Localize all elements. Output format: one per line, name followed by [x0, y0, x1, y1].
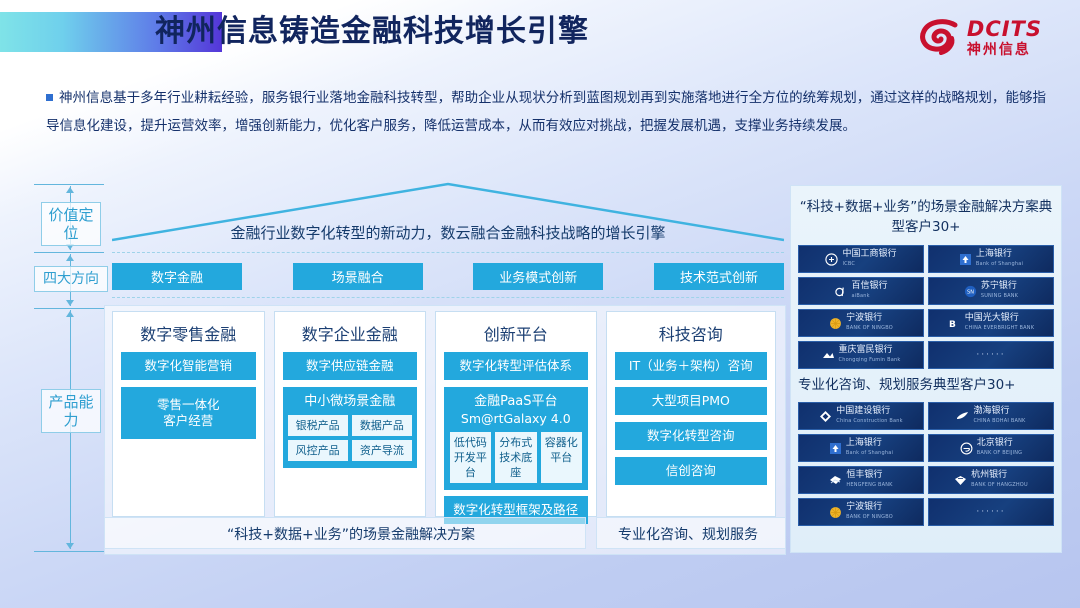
- column-title: 数字企业金融: [283, 321, 418, 345]
- client-grid-consulting: 中国建设银行 China Construction Bank 渤海银行 CHIN…: [798, 402, 1054, 526]
- direction-pill-scenario-fusion[interactable]: 场景融合: [293, 263, 423, 290]
- client-cell[interactable]: 重庆富民银行 Chongqing Fumin Bank: [798, 341, 924, 369]
- box-large-project-pmo[interactable]: 大型项目PMO: [615, 387, 767, 415]
- box-transformation-assessment-system[interactable]: 数字化转型评估体系: [444, 352, 587, 380]
- hengfeng-icon: [829, 474, 842, 487]
- client-name: 上海银行 Bank of Shanghai: [976, 249, 1023, 269]
- dcits-logo-cn: 神州信息: [967, 43, 1042, 57]
- divider-dashed-top: [112, 252, 784, 253]
- rail-label-directions: 四大方向: [34, 266, 108, 292]
- capability-columns: 数字零售金融 数字化智能营销 零售一体化客户经营 数字企业金融 数字供应链金融 …: [112, 311, 776, 517]
- client-name: 重庆富民银行 Chongqing Fumin Bank: [839, 345, 901, 365]
- sub-asset-routing[interactable]: 资产导流: [352, 440, 412, 461]
- caption-consulting-service: 专业化咨询、规划服务: [600, 524, 776, 544]
- column-digital-retail-finance: 数字零售金融 数字化智能营销 零售一体化客户经营: [112, 311, 265, 517]
- direction-pill-digital-finance[interactable]: 数字金融: [112, 263, 242, 290]
- direction-pill-row: 数字金融 场景融合 业务模式创新 技术范式创新: [112, 263, 784, 291]
- sub-tax-product[interactable]: 银税产品: [288, 415, 348, 436]
- center-tagline: 金融行业数字化转型的新动力，数云融合金融科技战略的增长引擎: [112, 222, 784, 243]
- column-technology-consulting: 科技咨询 IT（业务＋架构）咨询 大型项目PMO 数字化转型咨询 信创咨询: [606, 311, 776, 517]
- group-title: 金融PaaS平台 Sm@rtGalaxy 4.0: [449, 393, 582, 427]
- client-name: 百信银行 aiBank: [851, 281, 887, 301]
- sub-lowcode-platform[interactable]: 低代码开发平台: [450, 432, 491, 483]
- group-sme-scenario-finance[interactable]: 中小微场景金融 银税产品 数据产品 风控产品 资产导流: [283, 387, 418, 468]
- box-digital-supply-chain-finance[interactable]: 数字供应链金融: [283, 352, 418, 380]
- dcits-swoosh-icon: [919, 18, 961, 58]
- svg-text:SN: SN: [967, 289, 974, 295]
- client-cell[interactable]: 北京银行 BANK OF BEIJING: [928, 434, 1054, 462]
- client-cell[interactable]: 宁波银行 BANK OF NINGBO: [798, 498, 924, 526]
- sub-risk-product[interactable]: 风控产品: [288, 440, 348, 461]
- direction-pill-business-model[interactable]: 业务模式创新: [473, 263, 603, 290]
- client-name: 渤海银行 CHINA BOHAI BANK: [973, 406, 1025, 426]
- sub-container-platform[interactable]: 容器化平台: [541, 432, 582, 483]
- page-title: 神州信息铸造金融科技增长引擎: [155, 9, 589, 55]
- group-title-sub: Sm@rtGalaxy 4.0: [449, 410, 582, 427]
- client-name: 上海银行 Bank of Shanghai: [846, 438, 893, 458]
- client-name: 中国建设银行 China Construction Bank: [836, 406, 902, 426]
- icbc-icon: [825, 253, 838, 266]
- client-name: 北京银行 BANK OF BEIJING: [977, 438, 1023, 458]
- column-innovation-platform: 创新平台 数字化转型评估体系 金融PaaS平台 Sm@rtGalaxy 4.0 …: [435, 311, 596, 517]
- intro-paragraph: 神州信息基于多年行业耕耘经验，服务银行业落地金融科技转型，帮助企业从现状分析到蓝…: [46, 84, 1046, 140]
- rail-label-capability: 产品能力: [41, 389, 101, 433]
- boshanghai-icon: [829, 442, 842, 455]
- divider-dashed-bottom: [112, 297, 784, 298]
- sub-distributed-tech-base[interactable]: 分布式技术底座: [495, 432, 536, 483]
- client-cell[interactable]: 杭州银行 BANK OF HANGZHOU: [928, 466, 1054, 494]
- group-financial-paas-platform[interactable]: 金融PaaS平台 Sm@rtGalaxy 4.0 低代码开发平台 分布式技术底座…: [444, 387, 587, 490]
- client-name: 中国工商银行 ICBC: [842, 249, 896, 269]
- box-digital-transformation-consulting[interactable]: 数字化转型咨询: [615, 422, 767, 450]
- column-title: 创新平台: [444, 321, 587, 345]
- bohai-icon: [956, 410, 969, 423]
- column-title: 数字零售金融: [121, 321, 256, 345]
- client-cell[interactable]: 上海银行 Bank of Shanghai: [798, 434, 924, 462]
- column-title: 科技咨询: [615, 321, 767, 345]
- client-cell[interactable]: 百信银行 aiBank: [798, 277, 924, 305]
- left-rail: 价值定位 四大方向 产品能力: [30, 184, 108, 552]
- svg-text:B: B: [949, 320, 956, 330]
- dcits-logo-text: DCITS 神州信息: [967, 19, 1042, 57]
- ccb-icon: [819, 410, 832, 423]
- bullet-square-icon: [46, 94, 53, 101]
- box-digital-smart-marketing[interactable]: 数字化智能营销: [121, 352, 256, 380]
- fumin-icon: [822, 349, 835, 362]
- client-name: 恒丰银行 HENGFENG BANK: [846, 470, 892, 490]
- direction-pill-tech-paradigm[interactable]: 技术范式创新: [654, 263, 784, 290]
- rail-label-value: 价值定位: [41, 202, 101, 246]
- suning-icon: SN: [964, 285, 977, 298]
- ellipsis-icon: ······: [976, 350, 1005, 360]
- client-name: 宁波银行 BANK OF NINGBO: [846, 502, 893, 522]
- sub-data-product[interactable]: 数据产品: [352, 415, 412, 436]
- ningbo-icon: [829, 506, 842, 519]
- client-name: 苏宁银行 SUNING BANK: [981, 281, 1018, 301]
- client-cell-more[interactable]: ······: [928, 341, 1054, 369]
- boshanghai-icon: [959, 253, 972, 266]
- ellipsis-icon: ······: [976, 507, 1005, 517]
- group-title-main: 金融PaaS平台: [474, 394, 557, 409]
- clients-heading-consulting: 专业化咨询、规划服务典型客户30+: [798, 376, 1054, 395]
- client-cell[interactable]: 中国工商银行 ICBC: [798, 245, 924, 273]
- dcits-logo-en: DCITS: [967, 19, 1042, 40]
- ningbo-icon: [829, 317, 842, 330]
- client-name: 杭州银行 BANK OF HANGZHOU: [971, 470, 1028, 490]
- aibank-icon: [834, 285, 847, 298]
- group-title: 中小微场景金融: [288, 393, 413, 410]
- box-retail-integrated-customer-ops[interactable]: 零售一体化客户经营: [121, 387, 256, 439]
- client-cell[interactable]: 渤海银行 CHINA BOHAI BANK: [928, 402, 1054, 430]
- caption-scenario-solution: “科技+数据+业务”的场景金融解决方案: [112, 524, 590, 544]
- client-name: 宁波银行 BANK OF NINGBO: [846, 313, 893, 333]
- client-name: 中国光大银行 CHINA EVERBRIGHT BANK: [965, 313, 1034, 333]
- client-cell[interactable]: B 中国光大银行 CHINA EVERBRIGHT BANK: [928, 309, 1054, 337]
- client-cell[interactable]: SN 苏宁银行 SUNING BANK: [928, 277, 1054, 305]
- sub-item-grid: 银税产品 数据产品 风控产品 资产导流: [288, 415, 413, 461]
- clients-heading-scenario: “科技+数据+业务”的场景金融解决方案典型客户30+: [798, 197, 1054, 237]
- hangzhou-icon: [954, 474, 967, 487]
- box-it-consulting[interactable]: IT（业务＋架构）咨询: [615, 352, 767, 380]
- everbright-icon: B: [948, 317, 961, 330]
- dcits-logo: DCITS 神州信息: [919, 16, 1042, 60]
- client-cell[interactable]: 中国建设银行 China Construction Bank: [798, 402, 924, 430]
- beijing-icon: [960, 442, 973, 455]
- client-cell[interactable]: 宁波银行 BANK OF NINGBO: [798, 309, 924, 337]
- sub-item-grid: 低代码开发平台 分布式技术底座 容器化平台: [449, 432, 582, 483]
- client-grid-scenario: 中国工商银行 ICBC 上海银行 Bank of Shanghai 百信银行: [798, 245, 1054, 369]
- client-logos-panel: “科技+数据+业务”的场景金融解决方案典型客户30+ 中国工商银行 ICBC 上…: [790, 185, 1062, 553]
- box-xinchuang-consulting[interactable]: 信创咨询: [615, 457, 767, 485]
- client-cell[interactable]: 上海银行 Bank of Shanghai: [928, 245, 1054, 273]
- column-digital-enterprise-finance: 数字企业金融 数字供应链金融 中小微场景金融 银税产品 数据产品 风控产品 资产…: [274, 311, 427, 517]
- client-cell[interactable]: 恒丰银行 HENGFENG BANK: [798, 466, 924, 494]
- slide-header: 神州信息铸造金融科技增长引擎 DCITS 神州信息: [0, 0, 1080, 74]
- slide-root: 神州信息铸造金融科技增长引擎 DCITS 神州信息 神州信息基于多年行业耕耘经验…: [0, 0, 1080, 608]
- client-cell-more[interactable]: ······: [928, 498, 1054, 526]
- intro-text: 神州信息基于多年行业耕耘经验，服务银行业落地金融科技转型，帮助企业从现状分析到蓝…: [46, 90, 1046, 134]
